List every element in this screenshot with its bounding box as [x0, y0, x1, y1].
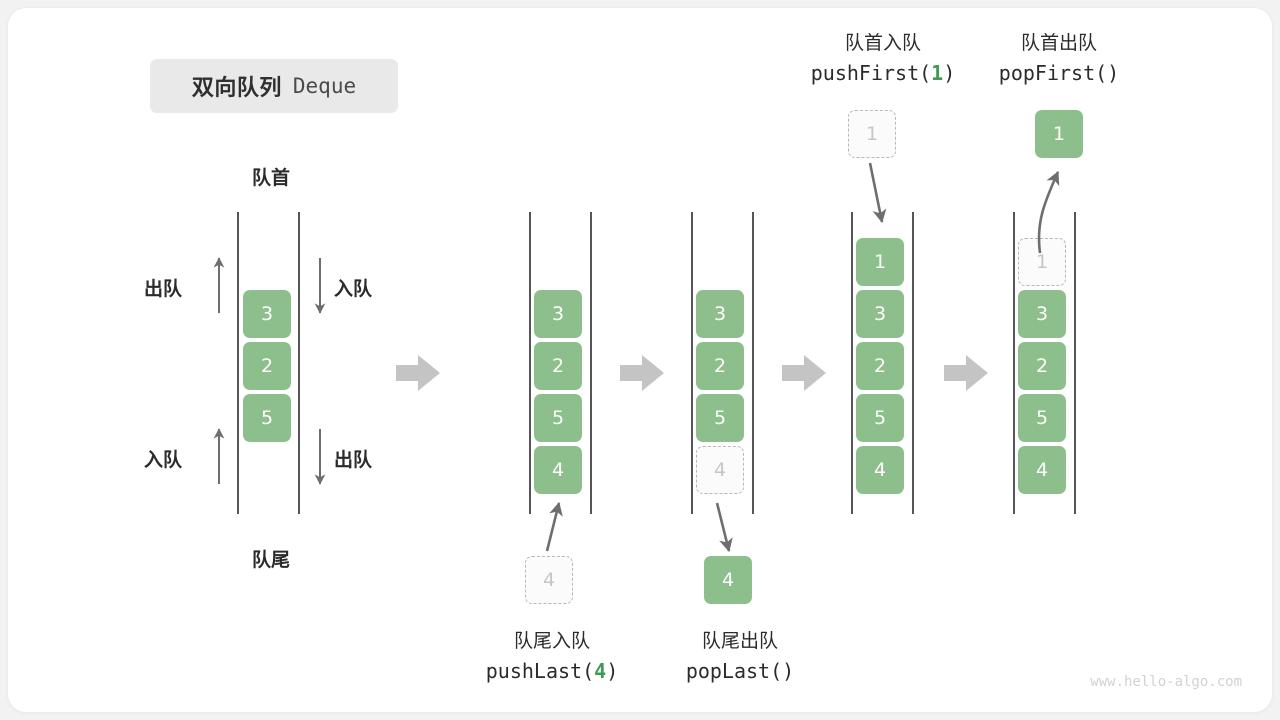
label-enqueue-top-right: 入队: [334, 274, 372, 301]
push-last-arrow: [547, 503, 559, 551]
pop-last-caption-cn: 队尾出队: [620, 628, 860, 656]
pop-first-caption: 队首出队 popFirst(): [936, 30, 1182, 88]
label-dequeue-bottom-right: 出队: [334, 445, 372, 472]
step-arrow-1: [396, 355, 440, 391]
cell: 2: [856, 342, 904, 390]
step-arrow-2: [620, 355, 664, 391]
pop-first-caption-cn: 队首出队: [936, 30, 1182, 58]
cell: 4: [856, 446, 904, 494]
cell: 2: [696, 342, 744, 390]
rail-left-col4: [851, 212, 853, 514]
cell: 3: [696, 290, 744, 338]
cell: 2: [1018, 342, 1066, 390]
cell: 1: [856, 238, 904, 286]
cell: 5: [1018, 394, 1066, 442]
rail-right-col1: [298, 212, 300, 514]
cell: 5: [243, 394, 291, 442]
rail-right-col3: [752, 212, 754, 514]
watermark: www.hello-algo.com: [1090, 674, 1242, 690]
rail-left-col1: [237, 212, 239, 514]
diagram-canvas: 双向队列 Deque 队首 队尾 3 2 5 出队 入队 入队 出队 3 2 5…: [0, 0, 1280, 720]
cell: 3: [856, 290, 904, 338]
cell: 2: [534, 342, 582, 390]
pop-last-caption: 队尾出队 popLast(): [620, 628, 860, 686]
push-first-ghost-cell: 1: [848, 110, 896, 158]
title-english: Deque: [293, 74, 356, 98]
rail-left-col3: [691, 212, 693, 514]
cell: 5: [856, 394, 904, 442]
pop-last-caption-code: popLast(): [620, 656, 860, 686]
cell: 5: [696, 394, 744, 442]
pop-first-caption-code: popFirst(): [936, 58, 1182, 88]
pop-first-result-cell: 1: [1035, 110, 1083, 158]
rail-right-col2: [590, 212, 592, 514]
push-first-arrow: [870, 163, 882, 222]
pop-last-arrow: [717, 503, 729, 551]
push-last-ghost-cell: 4: [525, 556, 573, 604]
cell: 1: [1018, 238, 1066, 286]
pop-last-result-cell: 4: [704, 556, 752, 604]
rear-label: 队尾: [215, 545, 327, 572]
cell: 4: [1018, 446, 1066, 494]
rail-left-col2: [529, 212, 531, 514]
diagram-card: 双向队列 Deque 队首 队尾 3 2 5 出队 入队 入队 出队 3 2 5…: [8, 8, 1272, 712]
cell: 3: [534, 290, 582, 338]
cell: 3: [1018, 290, 1066, 338]
title-chinese: 双向队列: [192, 70, 282, 102]
label-enqueue-bottom-left: 入队: [144, 445, 182, 472]
label-dequeue-top-left: 出队: [144, 274, 182, 301]
title-chip: 双向队列 Deque: [150, 59, 398, 113]
rail-right-col4: [912, 212, 914, 514]
rail-right-col5: [1074, 212, 1076, 514]
step-arrow-4: [944, 355, 988, 391]
cell: 4: [534, 446, 582, 494]
front-label: 队首: [215, 163, 327, 190]
cell: 5: [534, 394, 582, 442]
cell: 4: [696, 446, 744, 494]
cell: 2: [243, 342, 291, 390]
cell: 3: [243, 290, 291, 338]
rail-left-col5: [1013, 212, 1015, 514]
step-arrow-3: [782, 355, 826, 391]
